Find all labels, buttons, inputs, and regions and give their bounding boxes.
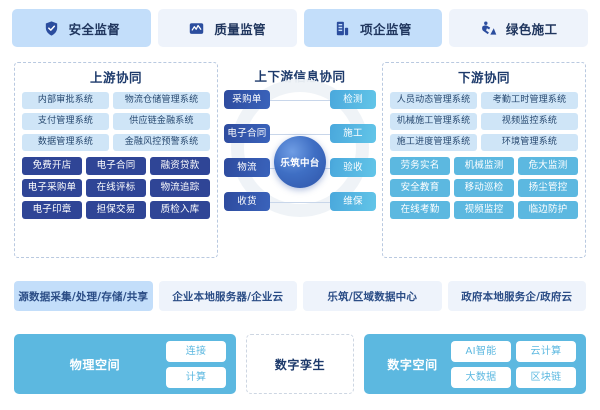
hub-core-circle[interactable]: 乐筑中台 bbox=[274, 136, 326, 188]
panel-center-hub: 上下游信息协同 采购单 电子合同 物流 收货 检测 施工 验收 维保 bbox=[222, 62, 378, 258]
system-row: 人员动态管理系统 考勤工时管理系统 bbox=[390, 92, 578, 109]
system-row: 施工进度管理系统 环境管理系统 bbox=[390, 134, 578, 151]
function-chip[interactable]: 电子采购单 bbox=[22, 179, 82, 197]
system-row: 支付管理系统 供应链金融系统 bbox=[22, 113, 210, 130]
system-chip[interactable]: 内部审批系统 bbox=[22, 92, 109, 109]
tab-quality-supervision[interactable]: 质量监管 bbox=[158, 9, 297, 47]
function-chip[interactable]: 扬尘管控 bbox=[518, 179, 578, 197]
system-row: 内部审批系统 物流仓储管理系统 bbox=[22, 92, 210, 109]
hub-inbound-chip[interactable]: 采购单 bbox=[224, 90, 270, 109]
function-chip[interactable]: 劳务实名 bbox=[390, 157, 450, 175]
system-chip[interactable]: 环境管理系统 bbox=[481, 134, 578, 151]
function-chip[interactable]: 视频监控 bbox=[454, 201, 514, 219]
system-row: 机械施工管理系统 视频监控系统 bbox=[390, 113, 578, 130]
tab-enterprise-supervision[interactable]: 项企监管 bbox=[304, 9, 443, 47]
hub-connector-line bbox=[268, 100, 300, 101]
space-tag[interactable]: 计算 bbox=[166, 367, 226, 388]
shield-check-icon bbox=[43, 20, 60, 37]
system-chip[interactable]: 施工进度管理系统 bbox=[390, 134, 477, 151]
space-tag[interactable]: 区块链 bbox=[516, 367, 576, 388]
function-row: 电子采购单 在线评标 物流追踪 bbox=[22, 179, 210, 197]
digital-space-label: 数字空间 bbox=[374, 356, 451, 373]
hub-connector-line bbox=[268, 134, 300, 135]
function-chip[interactable]: 融资贷款 bbox=[150, 157, 210, 175]
function-chip[interactable]: 担保交易 bbox=[86, 201, 146, 219]
tab-label: 质量监管 bbox=[214, 19, 266, 38]
chart-monitor-icon bbox=[188, 20, 205, 37]
upstream-function-grid: 免费开店 电子合同 融资贷款 电子采购单 在线评标 物流追踪 电子印章 担保交易… bbox=[22, 157, 210, 219]
function-chip[interactable]: 机械监测 bbox=[454, 157, 514, 175]
system-chip[interactable]: 供应链金融系统 bbox=[113, 113, 210, 130]
hub-inbound-chip[interactable]: 收货 bbox=[224, 192, 270, 211]
data-pill-enterprise-cloud[interactable]: 企业本地服务器/企业云 bbox=[159, 281, 298, 311]
system-chip[interactable]: 数据管理系统 bbox=[22, 134, 109, 151]
architecture-diagram: 安全监督 质量监管 项企监管 bbox=[0, 0, 600, 410]
space-tag[interactable]: AI智能 bbox=[451, 341, 511, 362]
tab-label: 安全监督 bbox=[69, 19, 121, 38]
function-chip[interactable]: 物流追踪 bbox=[150, 179, 210, 197]
function-chip[interactable]: 危大监测 bbox=[518, 157, 578, 175]
function-chip[interactable]: 电子印章 bbox=[22, 201, 82, 219]
function-chip[interactable]: 在线评标 bbox=[86, 179, 146, 197]
tab-safety-supervision[interactable]: 安全监督 bbox=[12, 9, 151, 47]
hub-connector-line bbox=[300, 202, 332, 203]
function-row: 免费开店 电子合同 融资贷款 bbox=[22, 157, 210, 175]
construction-worker-icon bbox=[480, 20, 497, 37]
hub-outbound-column: 检测 施工 验收 维保 bbox=[330, 90, 376, 211]
function-chip[interactable]: 临边防护 bbox=[518, 201, 578, 219]
space-tag[interactable]: 云计算 bbox=[516, 341, 576, 362]
hub-outbound-chip[interactable]: 维保 bbox=[330, 192, 376, 211]
hub-inbound-chip[interactable]: 电子合同 bbox=[224, 124, 270, 143]
hub-outbound-chip[interactable]: 检测 bbox=[330, 90, 376, 109]
system-chip[interactable]: 考勤工时管理系统 bbox=[481, 92, 578, 109]
space-layer-row: 物理空间 连接 计算 数字孪生 数字空间 AI智能 云计算 大数据 区块链 bbox=[14, 334, 586, 394]
data-layer-band: 源数据采集/处理/存储/共享 企业本地服务器/企业云 乐筑/区域数据中心 政府本… bbox=[14, 281, 586, 311]
hub-connector-line bbox=[300, 134, 332, 135]
downstream-function-grid: 劳务实名 机械监测 危大监测 安全教育 移动巡检 扬尘管控 在线考勤 视频监控 … bbox=[390, 157, 578, 219]
system-chip[interactable]: 支付管理系统 bbox=[22, 113, 109, 130]
digital-twin-box: 数字孪生 bbox=[246, 334, 354, 394]
data-pill-regional-datacenter[interactable]: 乐筑/区域数据中心 bbox=[303, 281, 442, 311]
function-chip[interactable]: 安全教育 bbox=[390, 179, 450, 197]
upstream-system-grid: 内部审批系统 物流仓储管理系统 支付管理系统 供应链金融系统 数据管理系统 金融… bbox=[22, 92, 210, 151]
system-chip[interactable]: 机械施工管理系统 bbox=[390, 113, 477, 130]
hub-inbound-chip[interactable]: 物流 bbox=[224, 158, 270, 177]
hub-outbound-chip[interactable]: 验收 bbox=[330, 158, 376, 177]
function-chip[interactable]: 在线考勤 bbox=[390, 201, 450, 219]
top-tab-row: 安全监督 质量监管 项企监管 bbox=[12, 9, 588, 47]
hub-outbound-chip[interactable]: 施工 bbox=[330, 124, 376, 143]
building-icon bbox=[334, 20, 351, 37]
function-chip[interactable]: 移动巡检 bbox=[454, 179, 514, 197]
downstream-system-grid: 人员动态管理系统 考勤工时管理系统 机械施工管理系统 视频监控系统 施工进度管理… bbox=[390, 92, 578, 151]
hub-connector-line bbox=[300, 100, 332, 101]
tab-label: 项企监管 bbox=[360, 19, 412, 38]
physical-space-label: 物理空间 bbox=[24, 356, 166, 373]
system-chip[interactable]: 物流仓储管理系统 bbox=[113, 92, 210, 109]
panel-downstream: 下游协同 人员动态管理系统 考勤工时管理系统 机械施工管理系统 视频监控系统 施… bbox=[382, 62, 586, 258]
physical-space-box: 物理空间 连接 计算 bbox=[14, 334, 236, 394]
function-row: 安全教育 移动巡检 扬尘管控 bbox=[390, 179, 578, 197]
panel-title-upstream: 上游协同 bbox=[22, 70, 210, 86]
function-chip[interactable]: 质检入库 bbox=[150, 201, 210, 219]
hub-inbound-column: 采购单 电子合同 物流 收货 bbox=[224, 90, 270, 211]
tab-label: 绿色施工 bbox=[506, 19, 558, 38]
function-row: 电子印章 担保交易 质检入库 bbox=[22, 201, 210, 219]
function-chip[interactable]: 电子合同 bbox=[86, 157, 146, 175]
collaboration-panels: 上游协同 内部审批系统 物流仓储管理系统 支付管理系统 供应链金融系统 数据管理… bbox=[0, 62, 600, 258]
function-chip[interactable]: 免费开店 bbox=[22, 157, 82, 175]
function-row: 在线考勤 视频监控 临边防护 bbox=[390, 201, 578, 219]
tab-green-construction[interactable]: 绿色施工 bbox=[449, 9, 588, 47]
physical-space-tags: 连接 计算 bbox=[166, 341, 226, 388]
data-pill-government-cloud[interactable]: 政府本地服务企/政府云 bbox=[448, 281, 587, 311]
hub-connector-line bbox=[268, 202, 300, 203]
function-row: 劳务实名 机械监测 危大监测 bbox=[390, 157, 578, 175]
system-chip[interactable]: 视频监控系统 bbox=[481, 113, 578, 130]
space-tag[interactable]: 连接 bbox=[166, 341, 226, 362]
system-chip[interactable]: 人员动态管理系统 bbox=[390, 92, 477, 109]
data-pill-source-collection[interactable]: 源数据采集/处理/存储/共享 bbox=[14, 281, 153, 311]
digital-twin-label: 数字孪生 bbox=[275, 356, 325, 373]
panel-title-downstream: 下游协同 bbox=[390, 70, 578, 86]
space-tag[interactable]: 大数据 bbox=[451, 367, 511, 388]
panel-upstream: 上游协同 内部审批系统 物流仓储管理系统 支付管理系统 供应链金融系统 数据管理… bbox=[14, 62, 218, 258]
digital-space-box: 数字空间 AI智能 云计算 大数据 区块链 bbox=[364, 334, 586, 394]
digital-space-tags: AI智能 云计算 大数据 区块链 bbox=[451, 341, 576, 388]
system-chip[interactable]: 金融风控预警系统 bbox=[113, 134, 210, 151]
system-row: 数据管理系统 金融风控预警系统 bbox=[22, 134, 210, 151]
hub-core-label: 乐筑中台 bbox=[280, 155, 319, 169]
